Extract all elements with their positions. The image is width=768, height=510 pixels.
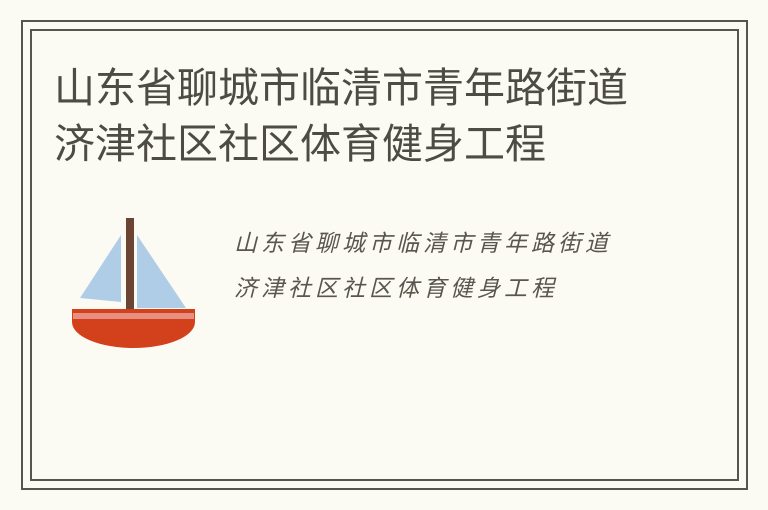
poster-card: 山东省聊城市临清市青年路街道 济津社区社区体育健身工程 山东省聊城市临清市青年路… bbox=[0, 0, 768, 510]
hull-stripe-shape bbox=[73, 313, 194, 319]
page-title: 山东省聊城市临清市青年路街道 济津社区社区体育健身工程 bbox=[54, 60, 694, 172]
handwritten-caption-line-2: 济津社区社区体育健身工程 bbox=[234, 267, 664, 312]
sail-left-shape bbox=[80, 235, 121, 302]
content-row: 山东省聊城市临清市青年路街道 济津社区社区体育健身工程 bbox=[0, 210, 768, 350]
page-title-line-2: 济津社区社区体育健身工程 bbox=[54, 116, 694, 172]
sail-right-shape bbox=[137, 235, 186, 308]
sailboat-icon bbox=[64, 210, 204, 350]
page-title-line-1: 山东省聊城市临清市青年路街道 bbox=[54, 60, 694, 116]
mast-shape bbox=[126, 218, 134, 314]
handwritten-caption-line-1: 山东省聊城市临清市青年路街道 bbox=[234, 222, 664, 267]
handwritten-caption: 山东省聊城市临清市青年路街道 济津社区社区体育健身工程 bbox=[234, 222, 664, 312]
